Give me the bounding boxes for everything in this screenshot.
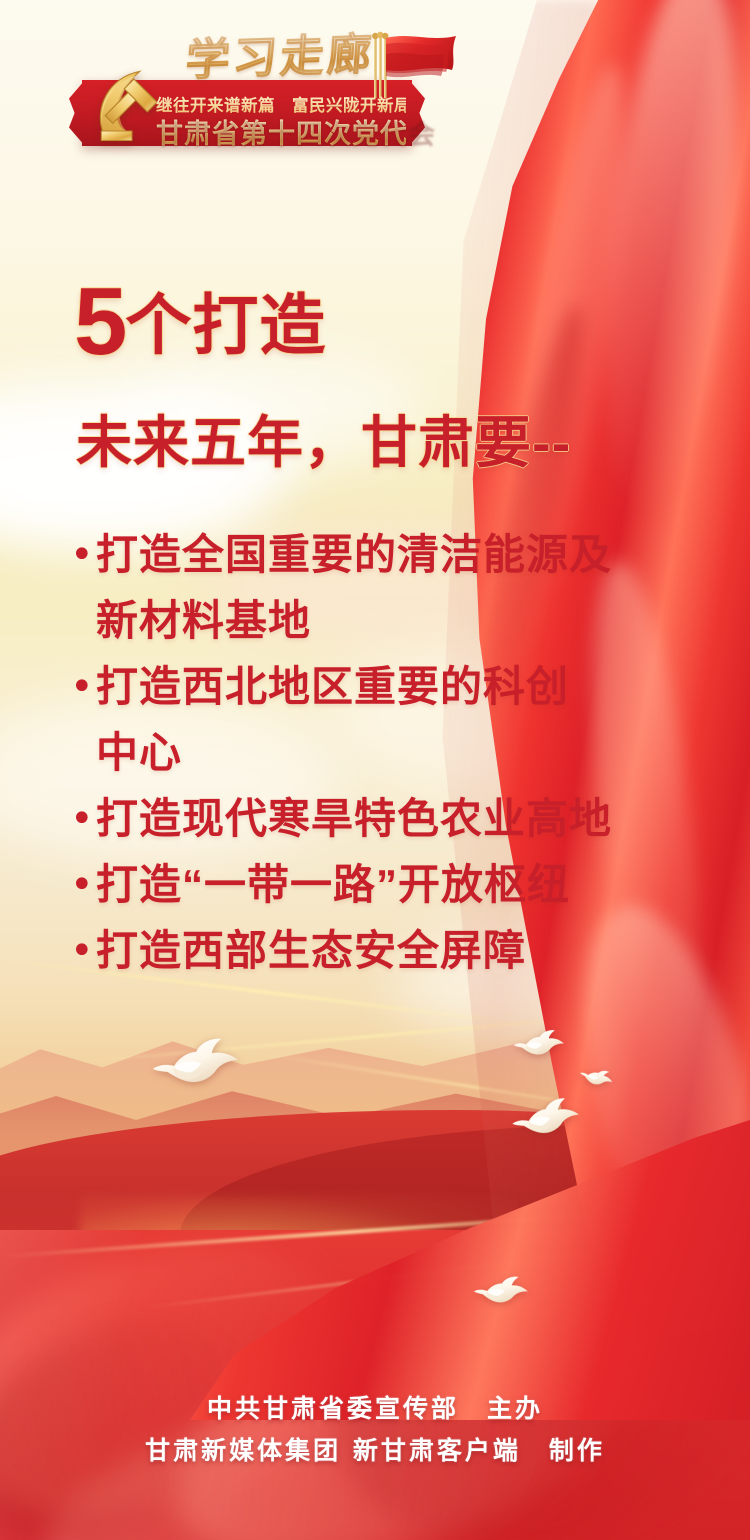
list-item-label: 打造全国重要的清洁能源及: [96, 524, 612, 586]
page-title: 5个打造: [74, 272, 326, 368]
list-item: •打造现代寒旱特色农业高地: [70, 788, 690, 850]
page-subtitle: 未来五年，甘肃要--: [76, 398, 571, 479]
list-item-label: 新材料基地: [96, 590, 311, 652]
list-item: •打造全国重要的清洁能源及: [70, 524, 690, 586]
footer-credits: 中共甘肃省委宣传部 主办 甘肃新媒体集团 新甘肃客户端 制作: [0, 1390, 750, 1470]
list-item: •新材料基地: [70, 590, 690, 652]
title-number: 5: [74, 268, 125, 375]
poster-root: 学习走廊 继往开来谱新篇 富民兴陇开新局 甘肃省第十四次党代会 5个打造 未来五…: [0, 0, 750, 1540]
bullet-dot-icon: •: [70, 656, 92, 718]
list-item: •打造西北地区重要的科创: [70, 656, 690, 718]
bullet-dot-icon: •: [70, 854, 92, 916]
footer-line-sponsor: 中共甘肃省委宣传部 主办: [0, 1390, 750, 1428]
list-item: •打造西部生态安全屏障: [70, 920, 690, 982]
list-item: •打造“一带一路”开放枢纽: [70, 854, 690, 916]
list-item: •中心: [70, 722, 690, 784]
list-item-label: 中心: [96, 722, 182, 784]
footer-line-producer: 甘肃新媒体集团 新甘肃客户端 制作: [0, 1432, 750, 1470]
list-item-label: 打造西北地区重要的科创: [96, 656, 569, 718]
bullet-dot-icon: •: [70, 920, 92, 982]
title-suffix: 个打造: [125, 288, 326, 362]
bullet-dot-icon: •: [70, 788, 92, 850]
bullet-list: •打造全国重要的清洁能源及•新材料基地•打造西北地区重要的科创•中心•打造现代寒…: [70, 524, 690, 986]
list-item-label: 打造现代寒旱特色农业高地: [96, 788, 612, 850]
main-content: 5个打造 未来五年，甘肃要-- •打造全国重要的清洁能源及•新材料基地•打造西北…: [0, 0, 750, 1540]
list-item-label: 打造西部生态安全屏障: [96, 920, 526, 982]
bullet-dot-icon: •: [70, 524, 92, 586]
list-item-label: 打造“一带一路”开放枢纽: [96, 854, 570, 916]
